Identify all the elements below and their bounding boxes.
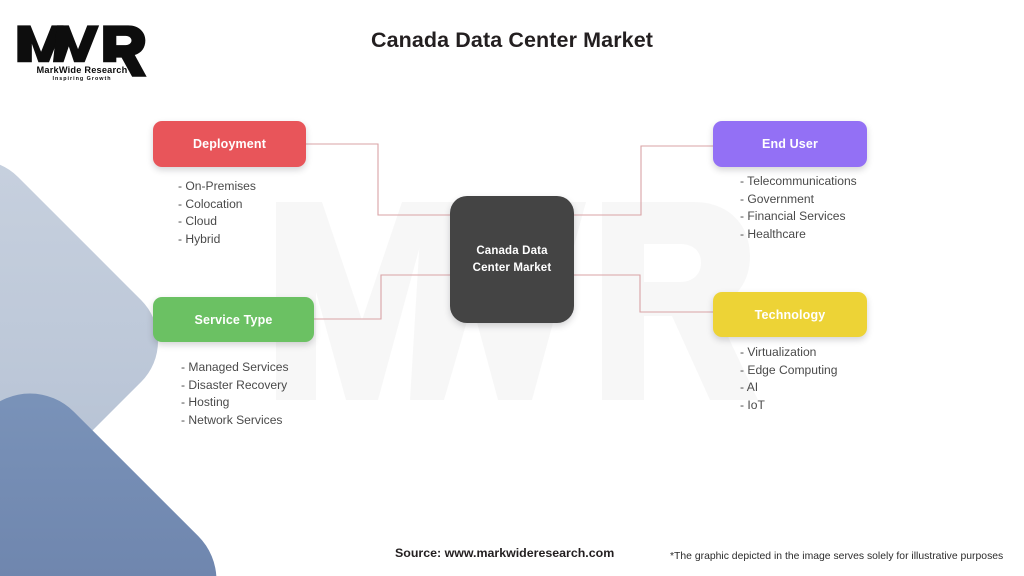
- list-item: - Disaster Recovery: [181, 377, 289, 395]
- node-technology-label: Technology: [755, 308, 826, 322]
- node-deployment-label: Deployment: [193, 137, 266, 151]
- list-item: - Healthcare: [740, 226, 857, 244]
- node-center[interactable]: Canada Data Center Market: [450, 196, 574, 323]
- node-service-type-label: Service Type: [194, 313, 272, 327]
- items-deployment: - On-Premises - Colocation - Cloud - Hyb…: [178, 178, 256, 248]
- node-technology[interactable]: Technology: [713, 292, 867, 337]
- list-item: - Virtualization: [740, 344, 837, 362]
- list-item: - Telecommunications: [740, 173, 857, 191]
- list-item: - Financial Services: [740, 208, 857, 226]
- diagram-canvas: MarkWide Research Inspiring Growth Canad…: [0, 0, 1024, 576]
- list-item: - AI: [740, 379, 837, 397]
- list-item: - On-Premises: [178, 178, 256, 196]
- node-deployment[interactable]: Deployment: [153, 121, 306, 167]
- node-center-label: Canada Data Center Market: [460, 243, 564, 276]
- list-item: - Cloud: [178, 213, 256, 231]
- list-item: - Hybrid: [178, 231, 256, 249]
- list-item: - Government: [740, 191, 857, 209]
- node-service-type[interactable]: Service Type: [153, 297, 314, 342]
- items-service-type: - Managed Services - Disaster Recovery -…: [181, 359, 289, 429]
- list-item: - IoT: [740, 397, 837, 415]
- node-end-user-label: End User: [762, 137, 818, 151]
- items-technology: - Virtualization - Edge Computing - AI -…: [740, 344, 837, 414]
- list-item: - Edge Computing: [740, 362, 837, 380]
- list-item: - Colocation: [178, 196, 256, 214]
- source-label: Source: www.markwideresearch.com: [395, 546, 614, 560]
- list-item: - Network Services: [181, 412, 289, 430]
- disclaimer-label: *The graphic depicted in the image serve…: [670, 551, 1003, 562]
- list-item: - Hosting: [181, 394, 289, 412]
- items-end-user: - Telecommunications - Government - Fina…: [740, 173, 857, 243]
- list-item: - Managed Services: [181, 359, 289, 377]
- node-end-user[interactable]: End User: [713, 121, 867, 167]
